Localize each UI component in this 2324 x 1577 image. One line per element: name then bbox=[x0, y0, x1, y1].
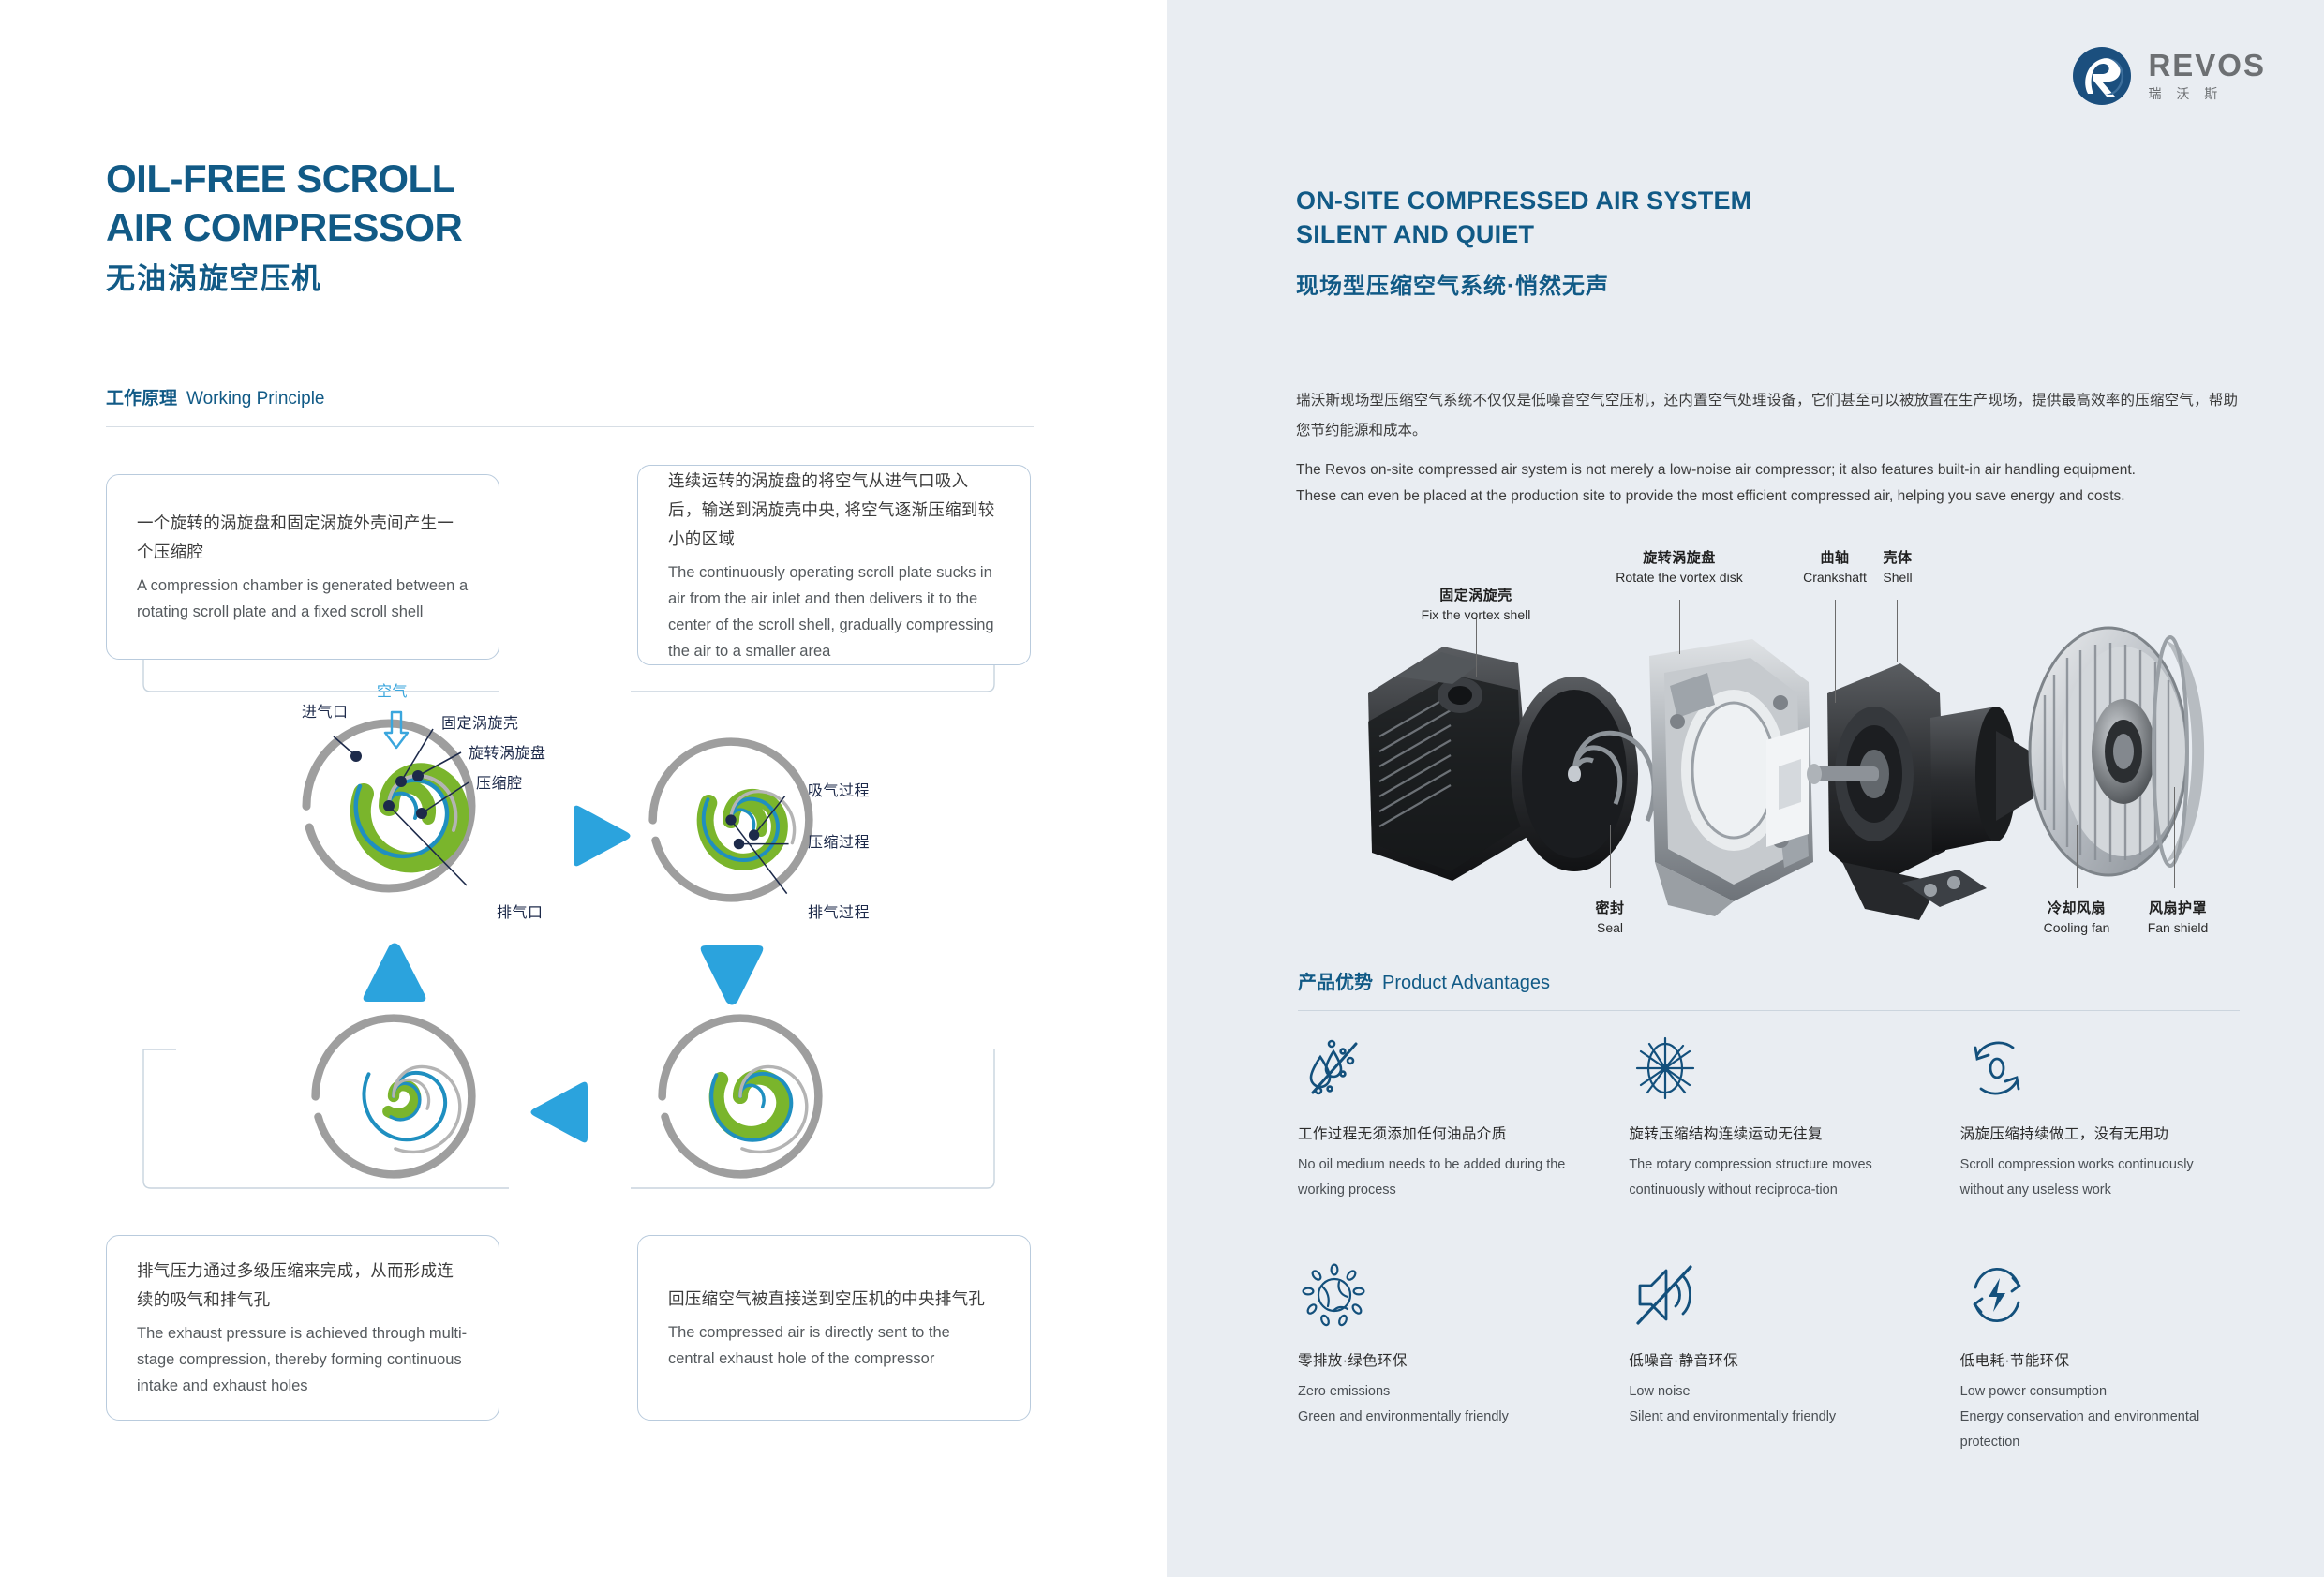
info-box-compression-chamber: 一个旋转的涡旋盘和固定涡旋外壳间产生一个压缩腔 A compression ch… bbox=[106, 474, 499, 660]
label-inlet: 进气口 bbox=[302, 699, 349, 722]
info-box-en: A compression chamber is generated betwe… bbox=[137, 573, 469, 625]
flow-arrow-left-icon bbox=[528, 1078, 593, 1147]
working-principle-heading-cn: 工作原理 bbox=[106, 389, 177, 409]
label-compression-chamber: 压缩腔 bbox=[476, 770, 523, 793]
info-box-scroll-intake: 连续运转的涡旋盘的将空气从进气口吸入后，输送到涡旋壳中央, 将空气逐渐压缩到较小… bbox=[637, 465, 1031, 665]
info-box-central-exhaust: 回压缩空气被直接送到空压机的中央排气孔 The compressed air i… bbox=[637, 1235, 1031, 1421]
working-principle-heading: 工作原理Working Principle bbox=[106, 384, 325, 409]
flow-arrow-right-icon bbox=[568, 801, 633, 870]
poster-page: OIL-FREE SCROLL AIR COMPRESSOR 无油涡旋空压机 工… bbox=[0, 0, 2324, 1577]
page-title-line1: OIL-FREE SCROLL bbox=[106, 155, 462, 203]
label-compression-process: 压缩过程 bbox=[808, 829, 870, 852]
flow-frame bbox=[106, 656, 1043, 1237]
label-exhaust-port: 排气口 bbox=[497, 900, 544, 922]
right-panel bbox=[1167, 0, 2324, 1577]
info-box-cn: 连续运转的涡旋盘的将空气从进气口吸入后，输送到涡旋壳中央, 将空气逐渐压缩到较小… bbox=[668, 467, 1000, 554]
label-air: 空气 bbox=[377, 678, 408, 701]
page-title-line2: AIR COMPRESSOR bbox=[106, 203, 462, 252]
scroll-diagram-4 bbox=[656, 1012, 825, 1181]
heading-divider bbox=[106, 426, 1034, 427]
label-intake-process: 吸气过程 bbox=[808, 778, 870, 800]
page-title-cn: 无油涡旋空压机 bbox=[106, 255, 322, 297]
air-inlet-arrow-icon bbox=[382, 710, 410, 751]
scroll-diagram-3 bbox=[309, 1012, 478, 1181]
page-title: OIL-FREE SCROLL AIR COMPRESSOR bbox=[106, 155, 462, 252]
flow-arrow-up-icon bbox=[361, 942, 428, 1005]
scroll-diagram-2 bbox=[647, 736, 815, 904]
label-rotating-disk: 旋转涡旋盘 bbox=[469, 740, 546, 763]
info-box-cn: 一个旋转的涡旋盘和固定涡旋外壳间产生一个压缩腔 bbox=[137, 509, 469, 567]
label-fixed-shell: 固定涡旋壳 bbox=[441, 710, 519, 733]
info-box-en: The compressed air is directly sent to t… bbox=[668, 1319, 1000, 1372]
label-exhaust-process: 排气过程 bbox=[808, 900, 870, 922]
working-principle-heading-en: Working Principle bbox=[177, 389, 324, 409]
info-box-exhaust-pressure: 排气压力通过多级压缩来完成，从而形成连续的吸气和排气孔 The exhaust … bbox=[106, 1235, 499, 1421]
info-box-en: The exhaust pressure is achieved through… bbox=[137, 1320, 469, 1399]
left-panel: OIL-FREE SCROLL AIR COMPRESSOR 无油涡旋空压机 工… bbox=[0, 0, 1167, 1577]
info-box-cn: 排气压力通过多级压缩来完成，从而形成连续的吸气和排气孔 bbox=[137, 1257, 469, 1315]
info-box-en: The continuously operating scroll plate … bbox=[668, 559, 1000, 664]
flow-arrow-down-icon bbox=[698, 942, 766, 1007]
info-box-cn: 回压缩空气被直接送到空压机的中央排气孔 bbox=[668, 1285, 1000, 1314]
